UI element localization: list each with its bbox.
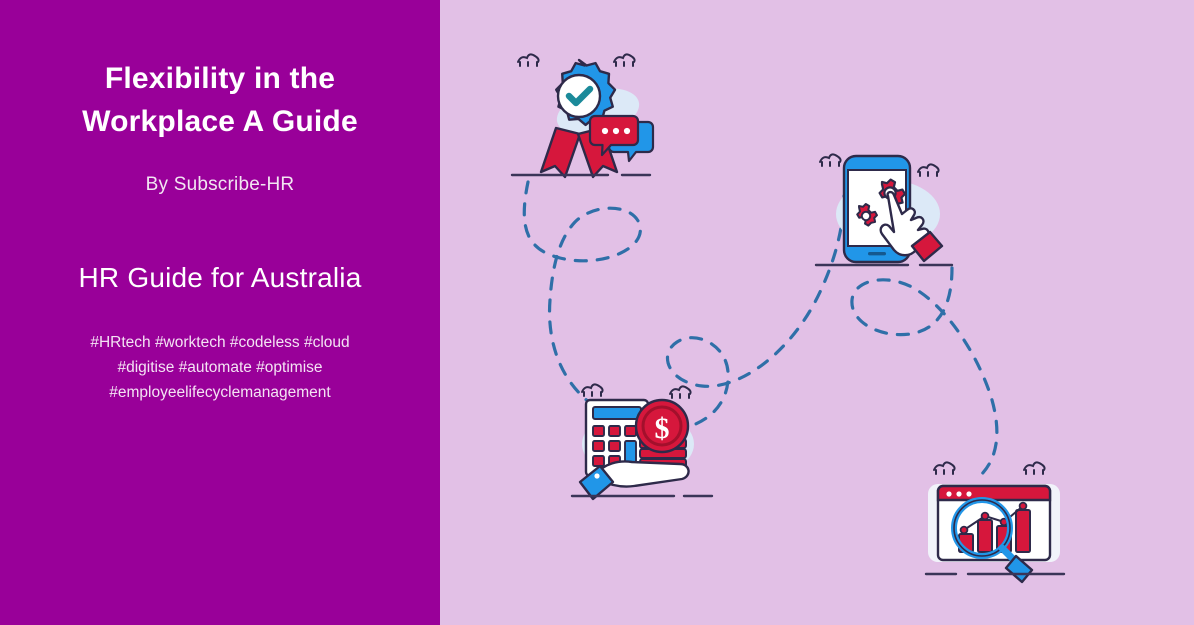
analytics-browser-illustration <box>920 452 1070 592</box>
window-control-dots <box>946 491 971 496</box>
payroll-calculator-illustration: $ <box>570 378 720 508</box>
award-badge-illustration <box>510 48 660 193</box>
browser-titlebar <box>938 486 1050 500</box>
mobile-settings-illustration <box>812 148 962 283</box>
subtitle: HR Guide for Australia <box>0 262 440 294</box>
presentation-slide: Flexibility in the Workplace A Guide By … <box>0 0 1194 625</box>
hashtag-list: #HRtech #worktech #codeless #cloud #digi… <box>0 330 440 405</box>
illustration-canvas: $ <box>440 0 1194 625</box>
hashtag-line: #digitise #automate #optimise <box>40 355 400 380</box>
cloud-doodle-icon <box>582 384 691 398</box>
hashtag-line: #HRtech #worktech #codeless #cloud <box>40 330 400 355</box>
byline: By Subscribe-HR <box>0 174 440 196</box>
dollar-sign: $ <box>655 412 670 445</box>
page-title: Flexibility in the Workplace A Guide <box>0 58 440 143</box>
left-title-panel: Flexibility in the Workplace A Guide By … <box>0 0 440 625</box>
calculator-display <box>593 407 641 419</box>
hashtag-line: #employeelifecyclemanagement <box>40 380 400 405</box>
cloud-doodle-icon <box>934 462 1045 474</box>
